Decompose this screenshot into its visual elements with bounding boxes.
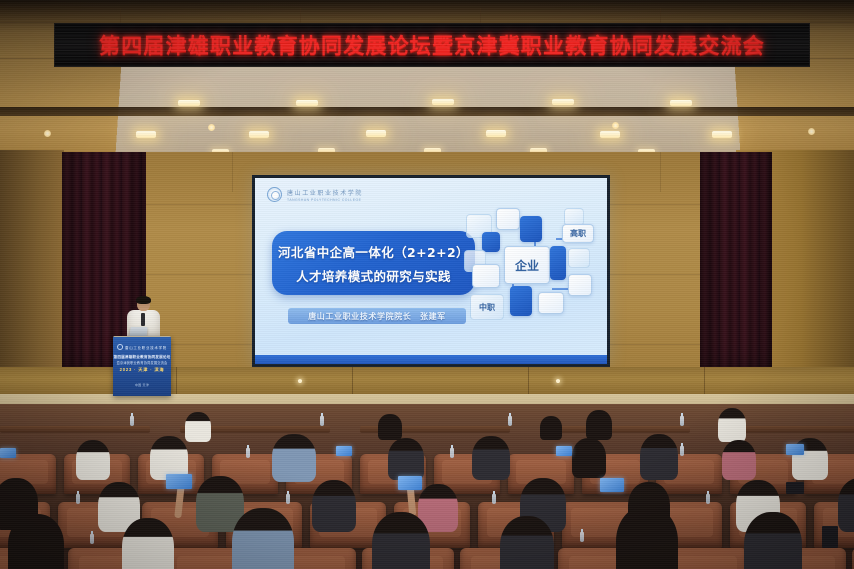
conference-hall-photo: 第四届津雄职业教育协同发展论坛暨京津冀职业教育协同发展交流会 唐山工业职业技术学… [0,0,854,569]
led-banner: 第四届津雄职业教育协同发展论坛暨京津冀职业教育协同发展交流会 [54,23,810,67]
audience-person [378,414,402,440]
ceiling-light [136,131,156,138]
slide-diagram: 高职 企业 中职 [464,202,603,340]
audience-phone [336,446,352,456]
ceiling-light [552,99,574,105]
stage-curtain-right [700,152,772,392]
podium: 唐山工业职业技术学院 第四届津雄职业教育协同发展论坛 暨京津冀职业教育协同发展交… [113,336,171,396]
audience-person [500,516,554,569]
diagram-label-qiye: 企业 [504,246,550,284]
audience-person [8,514,64,569]
slide-presenter-bar: 唐山工业职业技术学院院长 张建军 [288,308,466,324]
banner-text: 第四届津雄职业教育协同发展论坛暨京津冀职业教育协同发展交流会 [99,30,765,60]
podium-line-2: 暨京津冀职业教育协同发展交流会 [117,360,168,365]
audience-person [616,506,678,569]
diagram-label-zhongzhi: 中职 [470,294,504,320]
slide-presenter-text: 唐山工业职业技术学院院长 张建军 [308,311,446,322]
audience-phone [822,526,838,548]
audience-person [722,440,756,480]
audience-seating [0,404,854,569]
audience-person [640,434,678,480]
audience-phone [556,446,572,456]
slide-title-pill: 河北省中企高一体化（2+2+2） 人才培养模式的研究与实践 [272,231,475,295]
slide-footer-band [255,355,607,364]
presentation-slide: 唐山工业职业技术学院 TANGSHAN POLYTECHNIC COLLEGE … [255,178,607,364]
audience-person [272,434,316,482]
slide-title-line-2: 人才培养模式的研究与实践 [296,266,451,285]
ceiling-light [600,131,620,138]
audience-person [185,412,211,442]
podium-logo: 唐山工业职业技术学院 [117,344,167,350]
ceiling-soffit-beam [0,107,854,116]
college-emblem-icon [267,187,282,202]
audience-person [586,410,612,440]
audience-person [472,436,510,480]
podium-line-4: 中国 天津 [135,383,149,387]
audience-person [744,512,802,569]
slide-logo-en: TANGSHAN POLYTECHNIC COLLEGE [287,198,363,202]
audience-person [76,440,110,480]
ceiling-light [486,130,506,137]
slide-logo-cn: 唐山工业职业技术学院 [287,188,363,197]
audience-person [122,518,174,569]
audience-person [540,416,562,440]
audience-phone [0,448,16,458]
audience-phone [600,478,624,492]
audience-person [388,438,424,480]
ceiling-light [178,100,200,106]
podium-top-surface [113,336,171,337]
audience-person [312,480,356,532]
podium-logo-text: 唐山工业职业技术学院 [125,345,167,350]
ceiling-light [366,130,386,137]
audience-phone [398,476,422,490]
audience-person [572,438,606,478]
ceiling-light [432,99,454,105]
ceiling-light [249,131,269,138]
audience-person [718,408,746,442]
audience-phone [166,474,192,489]
podium-line-3: 2023 · 天津 · 滨海 [120,367,165,373]
audience-person [372,512,430,569]
ceiling-light [712,131,732,138]
ceiling-light [670,100,692,106]
audience-phone [786,482,804,494]
audience-person [232,508,294,569]
slide-title-line-1: 河北省中企高一体化（2+2+2） [278,242,469,261]
slide-institution-logo: 唐山工业职业技术学院 TANGSHAN POLYTECHNIC COLLEGE [267,187,363,202]
projection-screen: 唐山工业职业技术学院 TANGSHAN POLYTECHNIC COLLEGE … [252,175,610,367]
podium-emblem-icon [117,344,123,350]
audience-phone [786,444,804,455]
diagram-label-gaozhi: 高职 [562,224,594,243]
ceiling-light [296,100,318,106]
